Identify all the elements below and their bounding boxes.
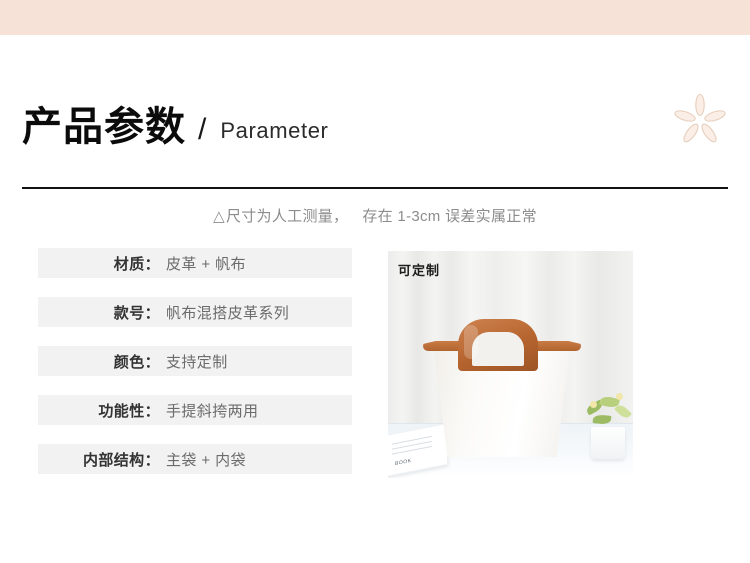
spec-row-internal-structure: 内部结构： 主袋 + 内袋 (38, 444, 352, 474)
spec-value: 支持定制 (162, 351, 352, 372)
page-title: 产品参数 (22, 107, 186, 147)
spec-label: 内部结构： (38, 449, 162, 470)
bag-handle-highlight (464, 325, 478, 359)
top-accent-band (0, 0, 750, 35)
spec-value: 帆布混搭皮革系列 (162, 302, 352, 323)
bag-handle-opening (472, 332, 524, 366)
notice-text-primary: 尺寸为人工测量， (226, 208, 348, 225)
spec-value: 主袋 + 内袋 (162, 449, 352, 470)
header-divider-rule (22, 187, 728, 189)
spec-label: 功能性： (38, 400, 162, 421)
customizable-badge: 可定制 (398, 260, 440, 279)
tote-bag (414, 323, 590, 457)
spec-row-functionality: 功能性： 手提斜挎两用 (38, 395, 352, 425)
spec-label: 材质： (38, 253, 162, 274)
flower-ornament-icon (672, 93, 728, 145)
spec-row-model: 款号： 帆布混搭皮革系列 (38, 297, 352, 327)
measurement-notice: △尺寸为人工测量，存在 1-3cm 误差实属正常 (0, 205, 750, 226)
spec-row-color: 颜色： 支持定制 (38, 346, 352, 376)
spec-row-material: 材质： 皮革 + 帆布 (38, 248, 352, 278)
plant-flower-icon (616, 393, 623, 400)
header-title-group: 产品参数 / Parameter (22, 95, 728, 147)
notice-text-secondary: 存在 1-3cm 误差实属正常 (362, 208, 537, 225)
spec-label: 颜色： (38, 351, 162, 372)
page-title-english: Parameter (220, 117, 328, 145)
plant-pot-prop (591, 427, 625, 459)
warning-triangle-icon: △ (213, 208, 225, 225)
title-slash-divider: / (198, 114, 206, 146)
plant-flower-icon (590, 401, 597, 408)
spec-value: 手提斜挎两用 (162, 400, 352, 421)
book-text: BOOK (395, 458, 411, 467)
product-photo-scene: BOOK 可定制 (388, 251, 633, 478)
spec-label: 款号： (38, 302, 162, 323)
product-photo: BOOK 可定制 (388, 251, 633, 478)
spec-value: 皮革 + 帆布 (162, 253, 352, 274)
spec-table: 材质： 皮革 + 帆布 款号： 帆布混搭皮革系列 颜色： 支持定制 功能性： 手… (38, 248, 352, 474)
page-header: 产品参数 / Parameter (0, 35, 750, 160)
